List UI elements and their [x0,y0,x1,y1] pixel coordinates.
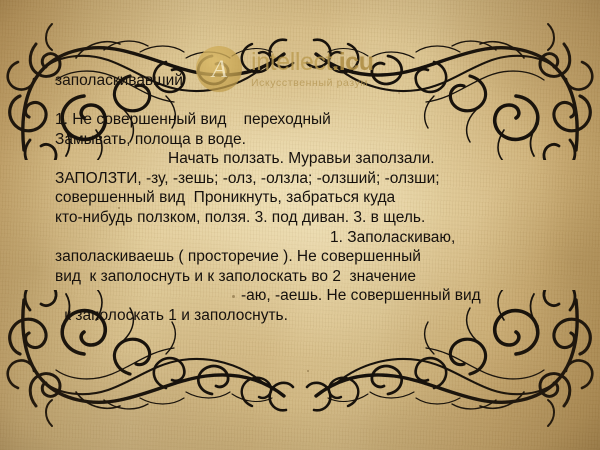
scanned-page: A intellect.icu Искусственный разум запо… [0,0,600,450]
parchment-vignette [0,0,600,450]
